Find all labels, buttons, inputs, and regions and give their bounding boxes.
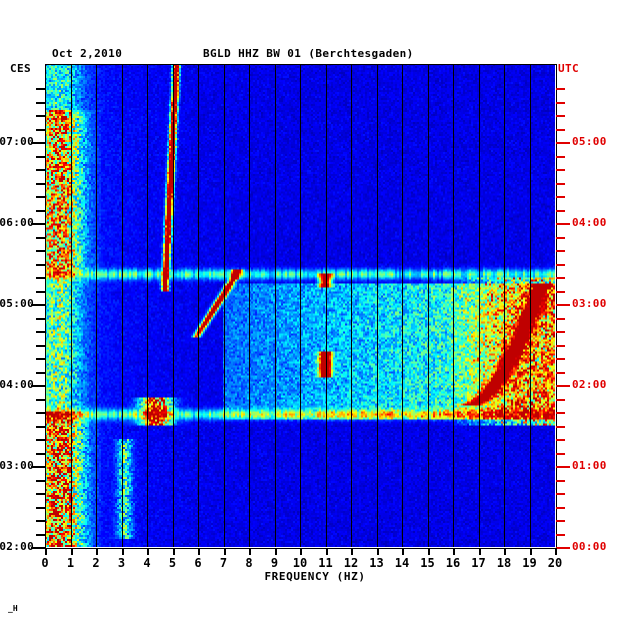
y-label-local-0700: 07:00 [0, 135, 34, 148]
x-tick-0 [45, 548, 47, 555]
spectrogram-plot[interactable] [45, 64, 555, 547]
y-tick-local [36, 372, 45, 374]
x-tick-6 [198, 548, 200, 555]
x-tick-label-20: 20 [540, 556, 570, 570]
y-tick-utc [556, 264, 565, 266]
y-tick-utc [556, 453, 565, 455]
y-tick-local [36, 412, 45, 414]
y-tick-utc [556, 426, 565, 428]
x-tick-5 [173, 548, 175, 555]
y-tick-utc [556, 291, 565, 293]
y-tick-local [36, 129, 45, 131]
x-tick-13 [377, 548, 379, 555]
y-tick-local [36, 102, 45, 104]
y-tick-utc [556, 156, 565, 158]
y-tick-utc [556, 520, 565, 522]
y-tick-local [36, 520, 45, 522]
plot-station-title: BGLD HHZ BW 01 (Berchtesgaden) [203, 47, 414, 60]
y-tick-local [36, 237, 45, 239]
y-tick-utc [556, 534, 565, 536]
y-tick-utc [556, 345, 565, 347]
y-tick-utc [556, 372, 565, 374]
spectrogram-image [45, 64, 555, 547]
y-tick-local [36, 493, 45, 495]
y-tick-utc [556, 412, 565, 414]
x-tick-19 [530, 548, 532, 555]
y-tick-local [36, 453, 45, 455]
y-label-utc-0000: 00:00 [572, 540, 607, 553]
y-tick-utc [556, 250, 565, 252]
x-tick-1 [71, 548, 73, 555]
y-tick-local [36, 169, 45, 171]
x-tick-15 [428, 548, 430, 555]
x-tick-7 [224, 548, 226, 555]
x-tick-12 [351, 548, 353, 555]
right-axis-name: UTC [558, 62, 579, 75]
y-tick-utc [556, 210, 565, 212]
y-tick-local [36, 358, 45, 360]
y-tick-local [36, 291, 45, 293]
y-tick-local [36, 210, 45, 212]
y-tick-utc [556, 507, 565, 509]
x-tick-2 [96, 548, 98, 555]
y-tick-local [36, 439, 45, 441]
y-tick-local [36, 399, 45, 401]
x-tick-3 [122, 548, 124, 555]
y-tick-local [36, 250, 45, 252]
y-tick-local [36, 507, 45, 509]
y-tick-local [36, 345, 45, 347]
x-tick-16 [453, 548, 455, 555]
corner-mark: _H [8, 604, 18, 613]
y-tick-local [36, 196, 45, 198]
x-tick-11 [326, 548, 328, 555]
x-tick-18 [504, 548, 506, 555]
y-tick-local [36, 480, 45, 482]
x-tick-20 [555, 548, 557, 555]
y-tick-utc [556, 142, 570, 144]
y-label-utc-0100: 01:00 [572, 459, 607, 472]
y-tick-local [36, 277, 45, 279]
y-tick-utc [556, 88, 565, 90]
x-tick-10 [300, 548, 302, 555]
y-tick-local [36, 534, 45, 536]
y-tick-utc [556, 466, 570, 468]
y-label-utc-0200: 02:00 [572, 378, 607, 391]
y-label-local-0400: 04:00 [0, 378, 34, 391]
y-tick-utc [556, 331, 565, 333]
y-tick-utc [556, 169, 565, 171]
y-tick-utc [556, 547, 570, 549]
y-label-utc-0400: 04:00 [572, 216, 607, 229]
y-tick-local [36, 318, 45, 320]
y-tick-utc [556, 318, 565, 320]
y-label-local-0600: 06:00 [0, 216, 34, 229]
y-tick-local [36, 331, 45, 333]
y-tick-utc [556, 277, 565, 279]
y-tick-utc [556, 129, 565, 131]
x-tick-8 [249, 548, 251, 555]
plot-date-title: Oct 2,2010 [52, 47, 122, 60]
y-tick-utc [556, 115, 565, 117]
y-tick-utc [556, 399, 565, 401]
x-tick-4 [147, 548, 149, 555]
y-tick-local [36, 156, 45, 158]
y-label-utc-0300: 03:00 [572, 297, 607, 310]
y-tick-utc [556, 196, 565, 198]
y-tick-local [36, 115, 45, 117]
y-tick-utc [556, 358, 565, 360]
y-label-utc-0500: 05:00 [572, 135, 607, 148]
x-tick-14 [402, 548, 404, 555]
y-tick-utc [556, 385, 570, 387]
y-tick-local [36, 264, 45, 266]
y-tick-utc [556, 304, 570, 306]
x-tick-17 [479, 548, 481, 555]
x-tick-9 [275, 548, 277, 555]
y-label-local-0300: 03:00 [0, 459, 34, 472]
left-axis-name: CES [10, 62, 31, 75]
y-tick-utc [556, 493, 565, 495]
y-tick-utc [556, 237, 565, 239]
y-tick-local [36, 426, 45, 428]
y-tick-utc [556, 439, 565, 441]
y-tick-utc [556, 223, 570, 225]
y-tick-utc [556, 183, 565, 185]
y-tick-local [36, 88, 45, 90]
y-tick-utc [556, 480, 565, 482]
x-axis-title: FREQUENCY (HZ) [0, 570, 630, 583]
y-label-local-0200: 02:00 [0, 540, 34, 553]
y-label-local-0500: 05:00 [0, 297, 34, 310]
y-tick-local [36, 183, 45, 185]
y-tick-utc [556, 102, 565, 104]
spectrogram-page: Oct 2,2010 BGLD HHZ BW 01 (Berchtesgaden… [0, 0, 630, 624]
